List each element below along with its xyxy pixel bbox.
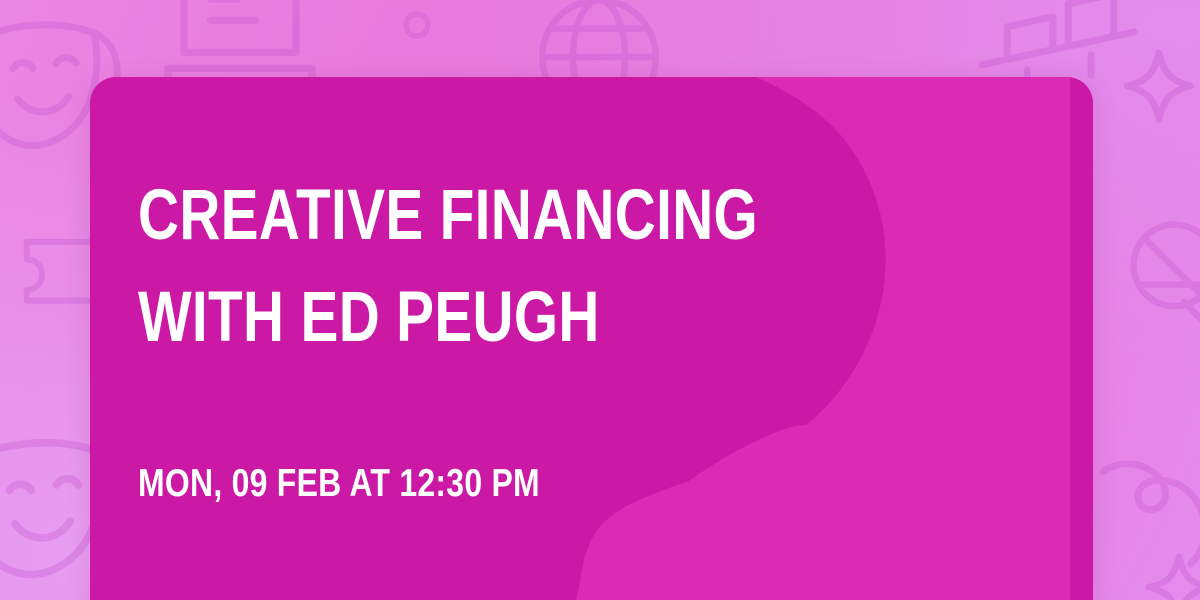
card-content: Creative Financing with Ed Peugh Mon, 09… bbox=[138, 77, 1045, 600]
sparkle-icon bbox=[1122, 48, 1196, 124]
star-outline-icon bbox=[1144, 552, 1200, 600]
microphone-icon bbox=[1112, 212, 1200, 362]
event-datetime: Mon, 09 Feb at 12:30 PM bbox=[138, 463, 540, 506]
event-title: Creative Financing with Ed Peugh bbox=[138, 165, 794, 369]
circle-dot-icon bbox=[400, 8, 434, 42]
event-banner: Creative Financing with Ed Peugh Mon, 09… bbox=[0, 0, 1200, 600]
event-card[interactable]: Creative Financing with Ed Peugh Mon, 09… bbox=[90, 77, 1093, 600]
